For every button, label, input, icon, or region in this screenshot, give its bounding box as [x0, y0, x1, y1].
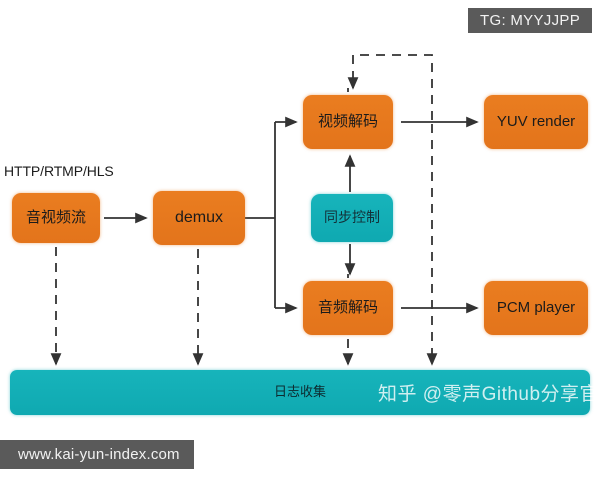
node-pcm-player-label: PCM player	[497, 300, 575, 317]
node-audio-decode-label: 音频解码	[318, 300, 378, 317]
node-video-decode[interactable]: 视频解码	[303, 95, 393, 149]
node-media-stream[interactable]: 音视频流	[12, 193, 100, 243]
node-log-collection-label: 日志收集	[274, 385, 326, 399]
node-audio-decode[interactable]: 音频解码	[303, 281, 393, 335]
node-pcm-player[interactable]: PCM player	[484, 281, 588, 335]
protocol-label: HTTP/RTMP/HLS	[4, 163, 114, 179]
node-yuv-render-label: YUV render	[497, 114, 575, 131]
telegram-badge: TG: MYYJJPP	[468, 8, 592, 33]
node-sync-control[interactable]: 同步控制	[311, 194, 393, 242]
url-badge: www.kai-yun-index.com	[0, 440, 194, 469]
node-sync-control-label: 同步控制	[324, 210, 380, 225]
node-video-decode-label: 视频解码	[318, 114, 378, 131]
node-demux[interactable]: demux	[153, 191, 245, 245]
node-media-stream-label: 音视频流	[26, 210, 86, 227]
node-yuv-render[interactable]: YUV render	[484, 95, 588, 149]
zhihu-watermark: 知乎 @零声Github分享官	[378, 379, 599, 406]
diagram-canvas: 音视频流 demux 视频解码 同步控制 音频解码 YUV render PCM…	[0, 0, 600, 480]
node-demux-label: demux	[175, 209, 223, 227]
